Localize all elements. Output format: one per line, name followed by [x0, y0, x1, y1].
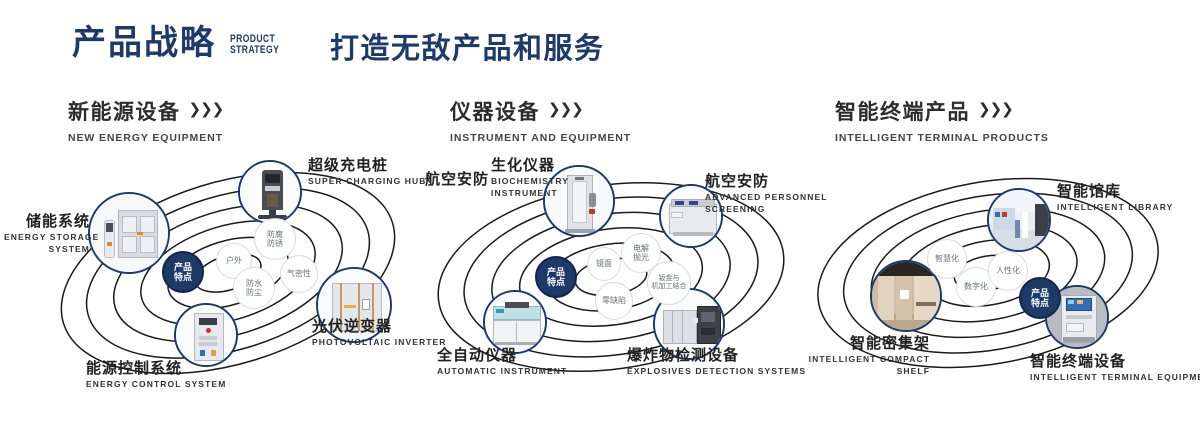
label-intelligent-library: 智能馆库 INTELLIGENT LIBRARY [1057, 183, 1173, 214]
chip-core-product-features[interactable]: 产品 特点 [1019, 277, 1061, 319]
chip-line1: 防腐 [267, 230, 283, 239]
node-automatic-instrument[interactable] [483, 290, 547, 354]
chip-label: 户外 [226, 256, 242, 265]
label-en-1: BIOCHEMISTRY [491, 176, 569, 187]
section-heading-cn: 仪器设备 [450, 96, 540, 126]
label-intelligent-compact-shelf: 智能密集架 INTELLIGENT COMPACT SHELF [780, 335, 930, 377]
charging-pile-icon [240, 162, 300, 222]
label-cn: 智能馆库 [1057, 183, 1173, 200]
chip-label: 零缺陷 [602, 296, 626, 305]
chip-line2: 特点 [174, 272, 192, 282]
label-en-2: SHELF [780, 366, 930, 377]
section-heading-en: NEW ENERGY EQUIPMENT [68, 132, 223, 144]
chip-line1: 钣金与 [652, 275, 687, 283]
label-aviation-security-left: 航空安防 [407, 171, 489, 188]
diagram-new-energy: 储能系统 ENERGY STORAGE SYSTEM 超级充电桩 SUPER C… [40, 155, 440, 395]
chip-line2: 防锈 [267, 239, 283, 248]
chip-feature-zero-defect[interactable]: 零缺陷 [595, 282, 633, 320]
label-intelligent-terminal-equipment: 智能终端设备 INTELLIGENT TERMINAL EQUIPMENT [1030, 353, 1200, 384]
chip-core-product-features[interactable]: 产品 特点 [535, 256, 577, 298]
chip-feature-sheetmetal-machining[interactable]: 钣金与 机加工结合 [647, 261, 691, 305]
chip-label: 智慧化 [935, 254, 959, 263]
label-cn: 智能密集架 [780, 335, 930, 352]
label-en-1: ENERGY CONTROL SYSTEM [86, 379, 226, 390]
control-cabinet-icon [176, 305, 236, 365]
chip-line1: 产品 [174, 262, 192, 272]
chip-core-product-features[interactable]: 产品 特点 [162, 251, 204, 293]
chip-line2: 抛光 [633, 253, 649, 262]
section-heading-cn: 新能源设备 [68, 96, 181, 126]
label-cn: 智能终端设备 [1030, 353, 1200, 370]
chip-feature-mirror-finish[interactable]: 镜面 [587, 247, 621, 281]
chevron-right-icon: ❯❯❯ [548, 100, 583, 118]
chip-line2: 防尘 [246, 288, 262, 297]
page-title-en-line2: STRATEGY [230, 45, 279, 56]
node-super-charging-hub[interactable] [238, 160, 302, 224]
label-cn: 能源控制系统 [86, 360, 226, 377]
chevron-right-icon: ❯❯❯ [189, 100, 224, 118]
poster-header: 产品战略 PRODUCT STRATEGY [72, 26, 293, 60]
chip-line1: 防水 [246, 279, 262, 288]
chip-feature-anticorrosion[interactable]: 防腐 防锈 [254, 218, 296, 260]
section-heading-new-energy: 新能源设备❯❯❯ NEW ENERGY EQUIPMENT [68, 96, 223, 144]
automatic-analyzer-icon [485, 292, 545, 352]
chevron-right-icon: ❯❯❯ [978, 100, 1013, 118]
label-en-2: INSTRUMENT [491, 188, 569, 199]
label-en-1: INTELLIGENT COMPACT [780, 354, 930, 365]
label-en-1: INTELLIGENT TERMINAL EQUIPMENT [1030, 372, 1200, 383]
node-energy-storage-system[interactable] [88, 192, 170, 274]
label-cn: 储能系统 [4, 213, 90, 230]
label-en-1: AUTOMATIC INSTRUMENT [437, 366, 567, 377]
label-energy-storage-system: 储能系统 ENERGY STORAGE SYSTEM [4, 213, 90, 255]
page-title-en: PRODUCT STRATEGY [230, 34, 279, 60]
chip-line2: 特点 [1031, 298, 1049, 308]
label-en-2: SYSTEM [4, 244, 90, 255]
compact-shelf-photo-icon [872, 262, 940, 330]
node-energy-control-system[interactable] [174, 303, 238, 367]
energy-storage-cabinet-icon [90, 194, 168, 272]
page-title: 产品战略 [72, 26, 216, 60]
chip-feature-airtightness[interactable]: 气密性 [280, 255, 318, 293]
section-heading-en: INSTRUMENT AND EQUIPMENT [450, 132, 631, 144]
label-en-1: ENERGY STORAGE [4, 232, 90, 243]
section-heading-instrument: 仪器设备❯❯❯ INSTRUMENT AND EQUIPMENT [450, 96, 631, 144]
diagram-instrument: 航空安防 生化仪器 BIOCHEMISTRY INSTRUMENT [415, 155, 815, 395]
chip-line1: 产品 [1031, 288, 1049, 298]
page-subtitle: 打造无敌产品和服务 [330, 32, 605, 67]
label-automatic-instrument: 全自动仪器 AUTOMATIC INSTRUMENT [437, 347, 567, 378]
section-heading-en: INTELLIGENT TERMINAL PRODUCTS [835, 132, 1049, 144]
chip-label: 气密性 [287, 269, 311, 278]
library-room-photo-icon [989, 190, 1049, 250]
label-energy-control-system: 能源控制系统 ENERGY CONTROL SYSTEM [86, 360, 226, 391]
chip-line1: 电解 [633, 244, 649, 253]
chip-line2: 特点 [547, 277, 565, 287]
label-cn: 生化仪器 [491, 157, 569, 174]
chip-label: 镜面 [596, 259, 612, 268]
chip-line2: 机加工结合 [652, 283, 687, 291]
section-heading-cn: 智能终端产品 [835, 96, 970, 126]
label-en-1: INTELLIGENT LIBRARY [1057, 202, 1173, 213]
chip-label: 数字化 [964, 282, 988, 291]
label-cn: 全自动仪器 [437, 347, 567, 364]
label-biochemistry-instrument: 生化仪器 BIOCHEMISTRY INSTRUMENT [491, 157, 569, 199]
label-cn: 航空安防 [407, 171, 489, 188]
section-heading-intelligent-terminal: 智能终端产品❯❯❯ INTELLIGENT TERMINAL PRODUCTS [835, 96, 1049, 144]
chip-line1: 产品 [547, 267, 565, 277]
poster-root: 产品战略 PRODUCT STRATEGY 打造无敌产品和服务 新能源设备❯❯❯… [0, 0, 1200, 422]
chip-label: 人性化 [996, 266, 1020, 275]
node-intelligent-library[interactable] [987, 188, 1051, 252]
chip-feature-waterproof[interactable]: 防水 防尘 [233, 267, 275, 309]
diagram-intelligent-terminal: 智能馆库 INTELLIGENT LIBRARY 智能密集架 INTELLIGE… [800, 155, 1200, 395]
